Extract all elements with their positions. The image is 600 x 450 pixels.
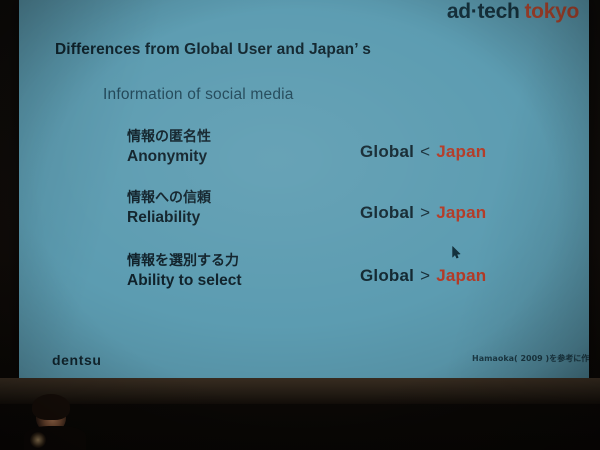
row-label-english: Ability to select	[127, 271, 242, 291]
comparison-row: 情報を選別する力 Ability to select Global>Japan	[19, 252, 589, 310]
row-label-japanese: 情報の匿名性	[127, 128, 211, 147]
stage-edge	[0, 378, 600, 404]
comparison-operator: <	[420, 142, 430, 161]
ambient-glow	[30, 432, 46, 448]
mouse-pointer-icon	[452, 246, 461, 259]
row-label-group: 情報の匿名性 Anonymity	[127, 128, 211, 167]
row-label-english: Anonymity	[127, 147, 211, 167]
row-label-english: Reliability	[127, 208, 211, 228]
row-label-japanese: 情報への信頼	[127, 189, 211, 208]
row-label-group: 情報を選別する力 Ability to select	[127, 252, 242, 291]
comparison-right-term: Japan	[436, 203, 486, 222]
row-comparison: Global>Japan	[360, 266, 486, 286]
comparison-operator: >	[420, 203, 430, 222]
comparison-left-term: Global	[360, 142, 414, 161]
presentation-slide: ad·techtokyo Differences from Global Use…	[19, 0, 589, 378]
logo-tokyo-text: tokyo	[524, 0, 579, 23]
slide-title: Differences from Global User and Japan’ …	[55, 41, 371, 59]
row-label-japanese: 情報を選別する力	[127, 252, 242, 271]
dentsu-logo: dentsu	[52, 352, 102, 368]
comparison-row: 情報の匿名性 Anonymity Global<Japan	[19, 128, 589, 186]
source-credit: Hamaoka( 2009 )を参考に作成	[472, 353, 589, 364]
silhouette-hair	[32, 394, 70, 420]
row-comparison: Global>Japan	[360, 203, 486, 223]
comparison-row: 情報への信頼 Reliability Global>Japan	[19, 189, 589, 247]
comparison-operator: >	[420, 266, 430, 285]
comparison-right-term: Japan	[436, 142, 486, 161]
comparison-left-term: Global	[360, 266, 414, 285]
logo-adtech-text: ad·tech	[447, 0, 520, 23]
row-label-group: 情報への信頼 Reliability	[127, 189, 211, 228]
adtech-tokyo-logo: ad·techtokyo	[447, 1, 579, 22]
row-comparison: Global<Japan	[360, 142, 486, 162]
comparison-right-term: Japan	[436, 266, 486, 285]
slide-subtitle: Information of social media	[103, 86, 294, 104]
comparison-left-term: Global	[360, 203, 414, 222]
projection-screen: ad·techtokyo Differences from Global Use…	[19, 0, 589, 378]
conference-photo: ad·techtokyo Differences from Global Use…	[0, 0, 600, 450]
